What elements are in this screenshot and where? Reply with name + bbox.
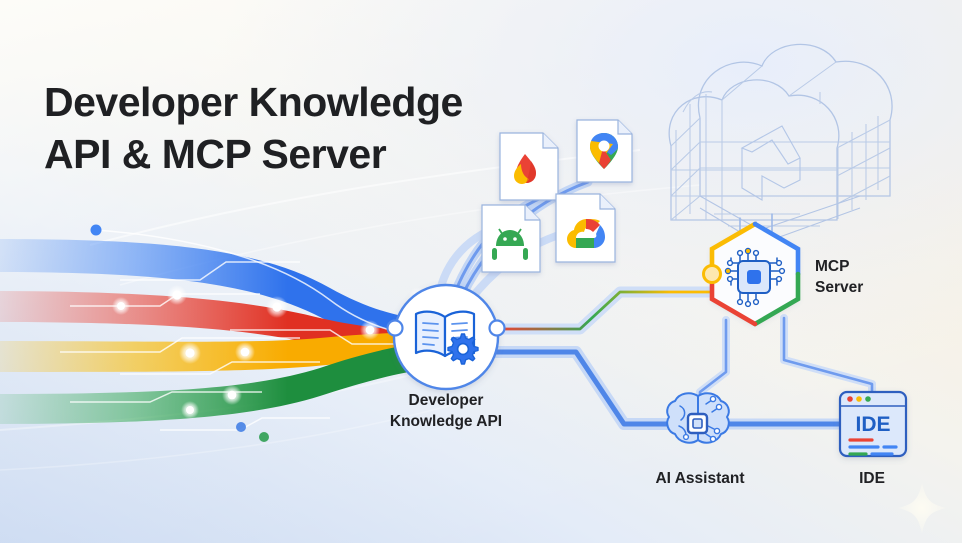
ide-node[interactable]: IDE [840,392,906,456]
mcp-input-port [704,266,721,283]
ai-assistant-label: AI Assistant [625,468,775,489]
ide-label: IDE [812,468,932,489]
mcp-server-label: MCP Server [815,256,945,298]
ai-assistant-node[interactable] [667,393,729,442]
page-title: Developer Knowledge API & MCP Server [44,76,564,180]
brain-circuit-icon [667,393,729,442]
gear-icon [448,334,478,364]
hub-label: Developer Knowledge API [341,390,551,432]
hub-port-left [388,321,403,336]
window-traffic-dots [847,396,871,402]
ide-window-text: IDE [855,413,890,436]
google-maps-doc-card [577,120,632,182]
hub-port-right [490,321,505,336]
android-doc-card [482,205,540,272]
google-cloud-doc-card [556,194,615,262]
illustration-canvas: IDE Developer Knowledge API & MCP Server… [0,0,962,543]
